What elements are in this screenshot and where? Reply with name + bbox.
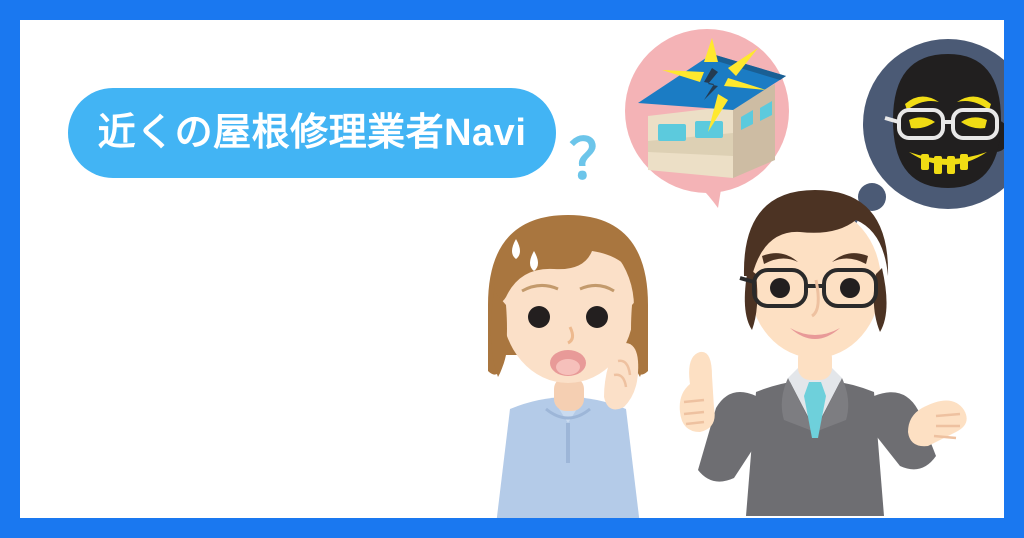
site-logo-label: 近くの屋根修理業者Navi [98,114,527,152]
house-window [658,124,686,141]
banner-frame: 近くの屋根修理業者Navi ？ [0,0,1024,538]
banner-canvas: 近くの屋根修理業者Navi ？ [20,20,1004,518]
advisor-man-character [660,170,970,518]
woman-eye [528,306,550,328]
woman-eye [586,306,608,328]
site-logo-badge[interactable]: 近くの屋根修理業者Navi [68,88,556,178]
man-eye [840,278,860,298]
man-suit [746,368,884,516]
worried-woman-character [458,195,678,518]
man-eye [770,278,790,298]
man-open-palm-arm [870,392,967,469]
woman-body [496,395,640,518]
